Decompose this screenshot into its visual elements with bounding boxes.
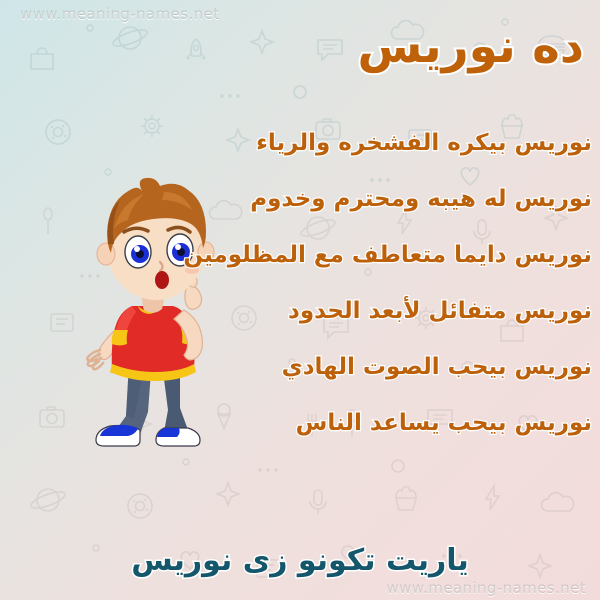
watermark-bottom: www.meaning-names.net [387,579,586,597]
closing-wish-text: ياريت تكونو زى نوريس [0,543,600,578]
attribute-line: نوريس بيكره الفشخره والرياء [172,124,592,180]
attribute-line: نوريس بيحب يساعد الناس [172,404,592,460]
watermark-top: www.meaning-names.net [20,5,219,23]
attribute-line: نوريس له هيبه ومحترم وخدوم [172,180,592,236]
attribute-lines-list: نوريس بيكره الفشخره والرياء نوريس له هيب… [172,124,592,460]
attribute-line: نوريس متفائل لأبعد الحدود [172,292,592,348]
name-meaning-card: www.meaning-names.net ده نوريس [0,0,600,600]
attribute-line: نوريس دايما متعاطف مع المظلومين [172,236,592,292]
page-title: ده نوريس [358,20,585,74]
attribute-line: نوريس بيحب الصوت الهادي [172,348,592,404]
